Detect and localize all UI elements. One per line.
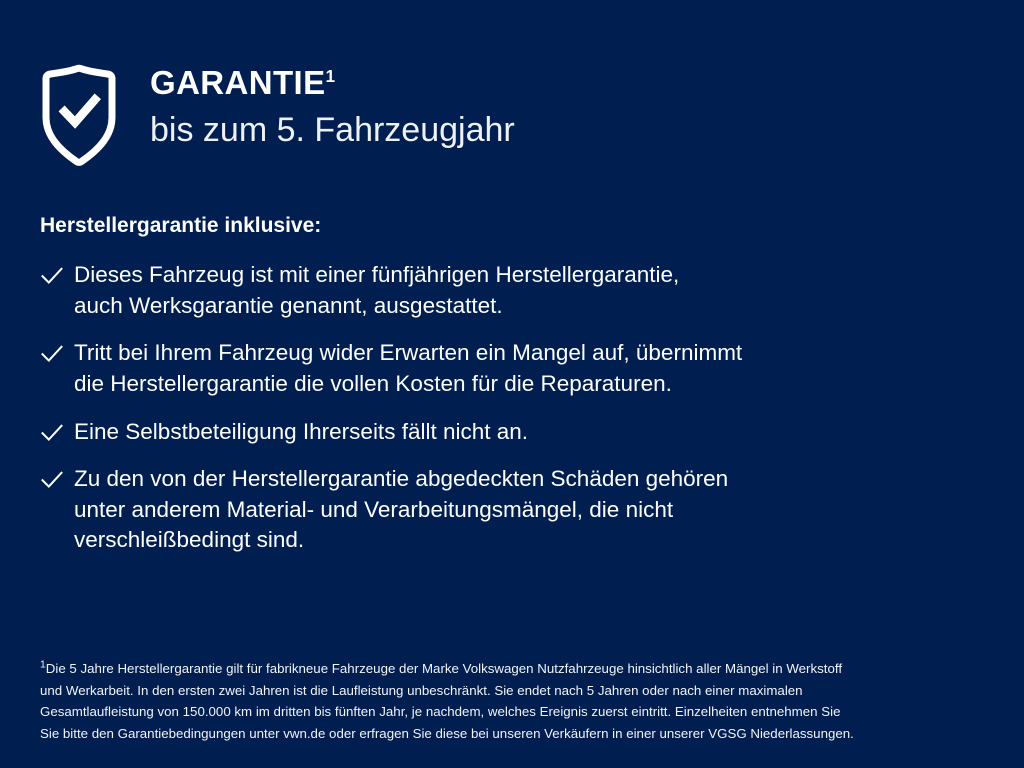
- checkmark-icon: [40, 338, 74, 366]
- page-title: GARANTIE1: [150, 66, 515, 99]
- list-item-label: Tritt bei Ihrem Fahrzeug wider Erwarten …: [74, 338, 742, 399]
- shield-check-icon: [40, 64, 118, 168]
- list-item: Eine Selbstbeteiligung Ihrerseits fällt …: [40, 417, 970, 448]
- list-item: Tritt bei Ihrem Fahrzeug wider Erwarten …: [40, 338, 970, 399]
- main-content: Herstellergarantie inklusive: Dieses Fah…: [40, 213, 970, 556]
- list-item-label: Zu den von der Herstellergarantie abgede…: [74, 464, 728, 556]
- page-title-text: GARANTIE: [150, 64, 326, 101]
- checkmark-icon: [40, 260, 74, 288]
- checkmark-icon: [40, 464, 74, 492]
- list-item-label: Dieses Fahrzeug ist mit einer fünfjährig…: [74, 260, 679, 321]
- list-item: Zu den von der Herstellergarantie abgede…: [40, 464, 970, 556]
- header: GARANTIE1 bis zum 5. Fahrzeugjahr: [40, 58, 515, 168]
- section-heading: Herstellergarantie inklusive:: [40, 213, 970, 238]
- footnote: 1Die 5 Jahre Herstellergarantie gilt für…: [40, 658, 985, 744]
- list-item-label: Eine Selbstbeteiligung Ihrerseits fällt …: [74, 417, 528, 448]
- garantie-info-card: GARANTIE1 bis zum 5. Fahrzeugjahr Herste…: [0, 0, 1024, 768]
- benefits-list: Dieses Fahrzeug ist mit einer fünfjährig…: [40, 260, 970, 556]
- list-item: Dieses Fahrzeug ist mit einer fünfjährig…: [40, 260, 970, 321]
- page-subtitle: bis zum 5. Fahrzeugjahr: [150, 113, 515, 147]
- header-text: GARANTIE1 bis zum 5. Fahrzeugjahr: [150, 58, 515, 147]
- checkmark-icon: [40, 417, 74, 445]
- page-title-footnote-marker: 1: [326, 66, 336, 86]
- footnote-text: Die 5 Jahre Herstellergarantie gilt für …: [40, 661, 854, 741]
